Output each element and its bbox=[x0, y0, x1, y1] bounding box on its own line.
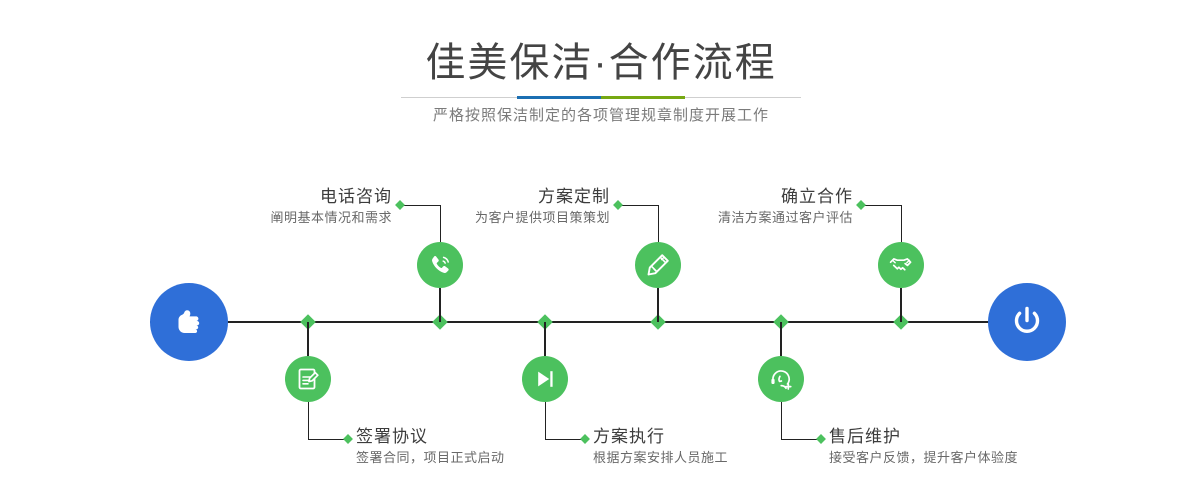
label-step-1-desc: 阐明基本情况和需求 bbox=[140, 208, 392, 228]
label-step-1-title: 电话咨询 bbox=[140, 186, 392, 208]
label-step-4: 方案执行 根据方案安排人员施工 bbox=[593, 426, 853, 468]
divider-right-line bbox=[685, 97, 801, 98]
stem-step-3 bbox=[657, 288, 659, 322]
timeline-start-node bbox=[150, 283, 228, 361]
label-step-3-title: 方案定制 bbox=[358, 186, 610, 208]
connector-v-step-4 bbox=[545, 402, 546, 439]
connector-v-step-6 bbox=[781, 402, 782, 439]
process-flow-infographic: 佳美保洁·合作流程 严格按照保洁制定的各项管理规章制度开展工作 bbox=[0, 0, 1202, 502]
label-step-2-title: 签署协议 bbox=[356, 426, 616, 448]
timeline-axis bbox=[150, 321, 1050, 323]
node-icon-step-5[interactable] bbox=[878, 242, 924, 288]
connector-v-step-5 bbox=[901, 205, 902, 242]
divider-blue-segment bbox=[517, 96, 601, 99]
label-step-6-desc: 接受客户反馈，提升客户体验度 bbox=[829, 448, 1109, 468]
label-step-6: 售后维护 接受客户反馈，提升客户体验度 bbox=[829, 426, 1109, 468]
node-icon-step-2[interactable] bbox=[285, 356, 331, 402]
stem-step-6 bbox=[780, 322, 782, 356]
label-step-1: 电话咨询 阐明基本情况和需求 bbox=[140, 186, 392, 228]
stem-step-1 bbox=[439, 288, 441, 322]
connector-h-step-6 bbox=[781, 439, 821, 440]
timeline-end-node bbox=[988, 283, 1066, 361]
label-step-3-desc: 为客户提供项目策策划 bbox=[358, 208, 610, 228]
label-step-6-title: 售后维护 bbox=[829, 426, 1109, 448]
title-divider bbox=[401, 96, 801, 99]
node-icon-step-3[interactable] bbox=[635, 242, 681, 288]
connector-tip-step-5 bbox=[856, 200, 866, 210]
connector-tip-step-2 bbox=[343, 434, 353, 444]
stem-step-4 bbox=[544, 322, 546, 356]
node-icon-step-4[interactable] bbox=[522, 356, 568, 402]
label-step-5-title: 确立合作 bbox=[601, 186, 853, 208]
page-title: 佳美保洁·合作流程 bbox=[0, 40, 1202, 86]
label-step-4-title: 方案执行 bbox=[593, 426, 853, 448]
label-step-3: 方案定制 为客户提供项目策策划 bbox=[358, 186, 610, 228]
connector-h-step-5 bbox=[861, 205, 901, 206]
label-step-2-desc: 签署合同，项目正式启动 bbox=[356, 448, 616, 468]
connector-h-step-2 bbox=[308, 439, 348, 440]
connector-h-step-4 bbox=[545, 439, 585, 440]
stem-step-2 bbox=[307, 322, 309, 356]
label-step-4-desc: 根据方案安排人员施工 bbox=[593, 448, 853, 468]
page-subtitle: 严格按照保洁制定的各项管理规章制度开展工作 bbox=[0, 105, 1202, 127]
divider-green-segment bbox=[601, 96, 685, 99]
node-icon-step-1[interactable] bbox=[417, 242, 463, 288]
connector-v-step-2 bbox=[308, 402, 309, 439]
divider-left-line bbox=[401, 97, 517, 98]
stem-step-5 bbox=[900, 288, 902, 322]
label-step-5: 确立合作 清洁方案通过客户评估 bbox=[601, 186, 853, 228]
label-step-5-desc: 清洁方案通过客户评估 bbox=[601, 208, 853, 228]
label-step-2: 签署协议 签署合同，项目正式启动 bbox=[356, 426, 616, 468]
node-icon-step-6[interactable] bbox=[758, 356, 804, 402]
